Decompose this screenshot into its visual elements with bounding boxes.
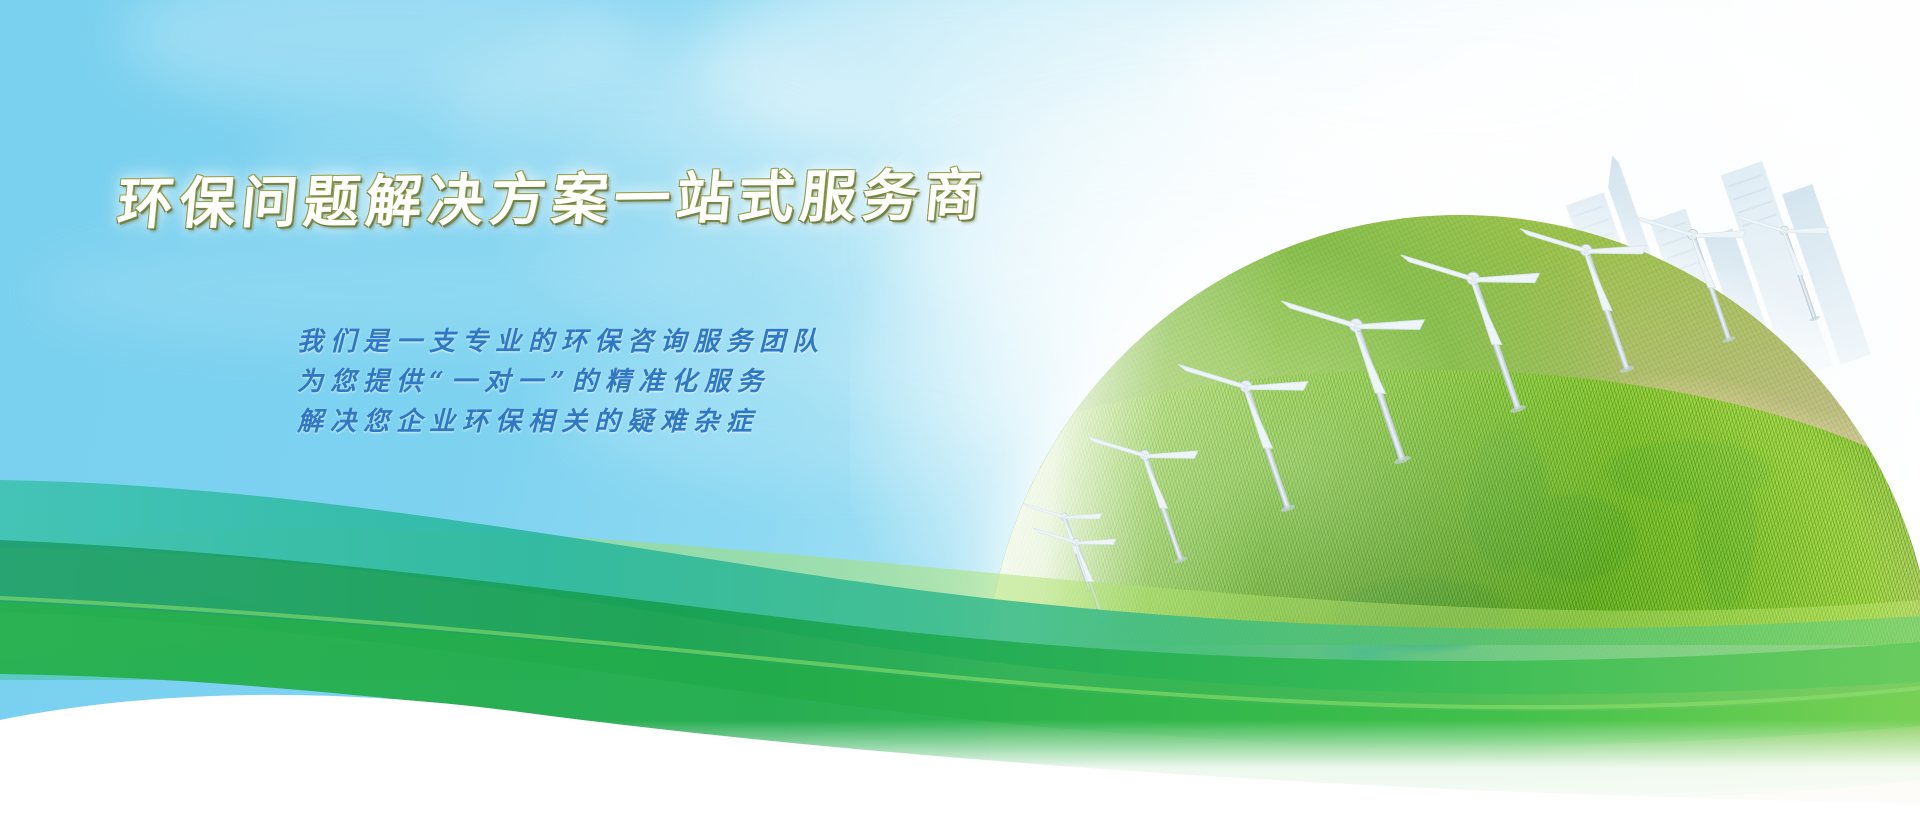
subtitle-line-1: 我们是一支专业的环保咨询服务团队 — [297, 322, 825, 362]
hero-banner: 环保问题解决方案一站式服务商 我们是一支专业的环保咨询服务团队 为您提供“一对一… — [0, 0, 1920, 840]
subtitle-line-2: 为您提供“一对一”的精准化服务 — [297, 362, 825, 402]
green-wave-ribbon — [0, 420, 1920, 840]
subtitle-line-3: 解决您企业环保相关的疑难杂症 — [297, 402, 825, 442]
subtitle-block: 我们是一支专业的环保咨询服务团队 为您提供“一对一”的精准化服务 解决您企业环保… — [297, 322, 825, 442]
page-title: 环保问题解决方案一站式服务商 — [115, 167, 989, 232]
